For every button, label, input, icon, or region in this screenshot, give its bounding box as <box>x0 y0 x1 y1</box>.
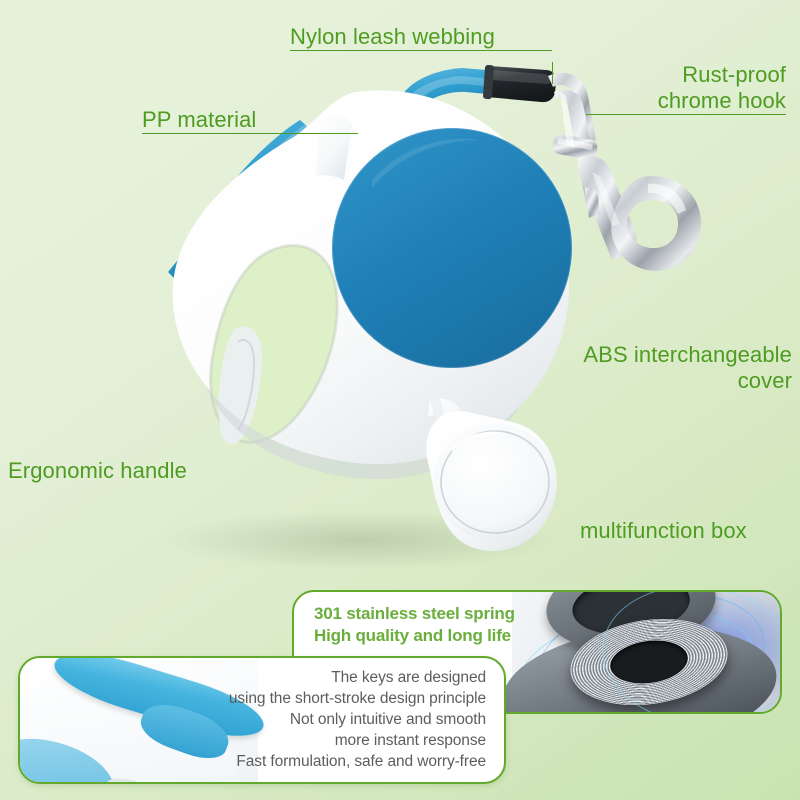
spring-mechanism-photo <box>512 592 780 712</box>
callout-label-nylon: Nylon leash webbing <box>290 24 552 50</box>
spring-card-title: 301 stainless steel spring High quality … <box>314 603 515 647</box>
callout-label-hook: Rust-proof chrome hook <box>586 62 786 114</box>
keys-card-text: The keys are designed using the short-st… <box>229 667 486 772</box>
multifunction-box-cap <box>433 424 557 540</box>
callout-abs-interchangeable-cover: ABS interchangeable cover <box>540 342 792 394</box>
handle-closeup-photo <box>20 658 258 782</box>
callout-elbow-nylon <box>536 62 553 84</box>
callout-label-ergonomic: Ergonomic handle <box>8 458 268 484</box>
callout-line-pp <box>142 133 358 134</box>
callout-line-nylon <box>290 50 552 51</box>
callout-label-pp: PP material <box>142 107 358 133</box>
callout-ergonomic-handle: Ergonomic handle <box>8 458 268 484</box>
callout-label-multifunction: multifunction box <box>580 518 796 544</box>
abs-cover <box>332 128 572 368</box>
infographic-page: Nylon leash webbing Rust-proof chrome ho… <box>0 0 800 800</box>
card-key-design: The keys are designed using the short-st… <box>18 656 506 784</box>
callout-label-abs: ABS interchangeable cover <box>540 342 792 394</box>
callout-rust-proof-chrome-hook: Rust-proof chrome hook <box>586 62 786 115</box>
callout-line-hook <box>586 114 786 115</box>
blue-arc-3 <box>595 590 782 714</box>
leash-body <box>168 90 572 479</box>
callout-nylon-leash-webbing: Nylon leash webbing <box>290 24 552 51</box>
callout-pp-material: PP material <box>142 107 358 134</box>
callout-multifunction-box: multifunction box <box>580 518 796 544</box>
